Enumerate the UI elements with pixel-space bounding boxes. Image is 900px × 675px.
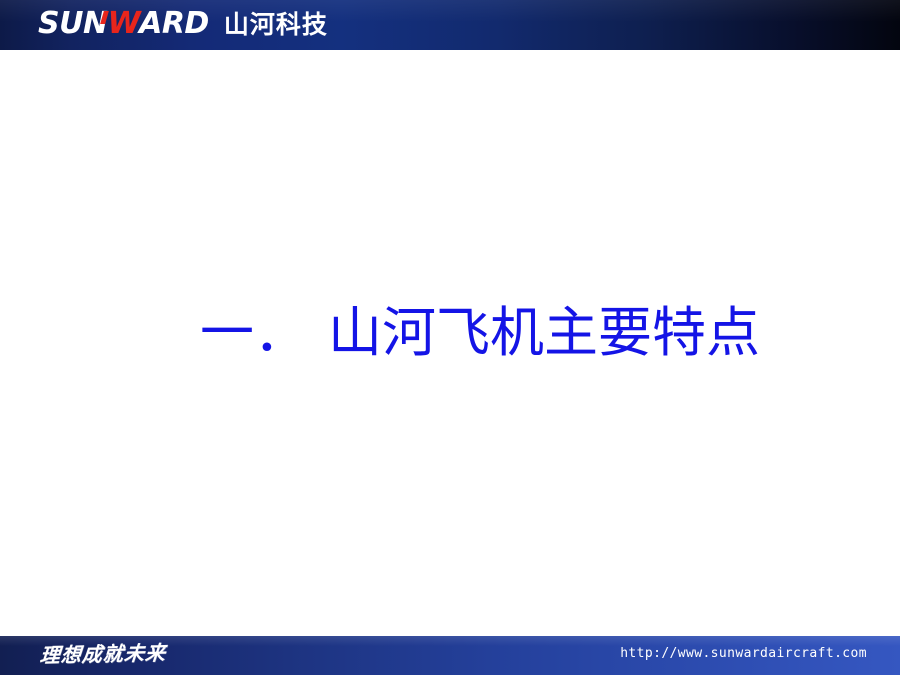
logo-text-w: W: [108, 6, 140, 41]
page-title-number: 一．: [200, 301, 308, 364]
logo-text-ard: ARD: [139, 6, 209, 41]
footer-website-url[interactable]: http://www.sunwardaircraft.com: [620, 647, 867, 660]
logo-wordmark: SUNWARD: [38, 9, 209, 39]
slide-content-area: 一．山河飞机主要特点: [0, 50, 900, 636]
logo-chinese-name: 山河科技: [224, 12, 328, 37]
slide-footer-band: 理想成就未来 http://www.sunwardaircraft.com: [0, 636, 900, 675]
sunward-logo: SUNWARD 山河科技: [38, 9, 328, 39]
presentation-slide: SUNWARD 山河科技 一．山河飞机主要特点 理想成就未来 http://ww…: [0, 0, 900, 675]
logo-text-sun: SUN: [38, 6, 108, 41]
page-title: 一．山河飞机主要特点: [200, 302, 760, 364]
slide-header-band: SUNWARD 山河科技: [0, 0, 900, 50]
footer-slogan: 理想成就未来: [39, 643, 167, 666]
page-title-text: 山河飞机主要特点: [328, 301, 760, 364]
